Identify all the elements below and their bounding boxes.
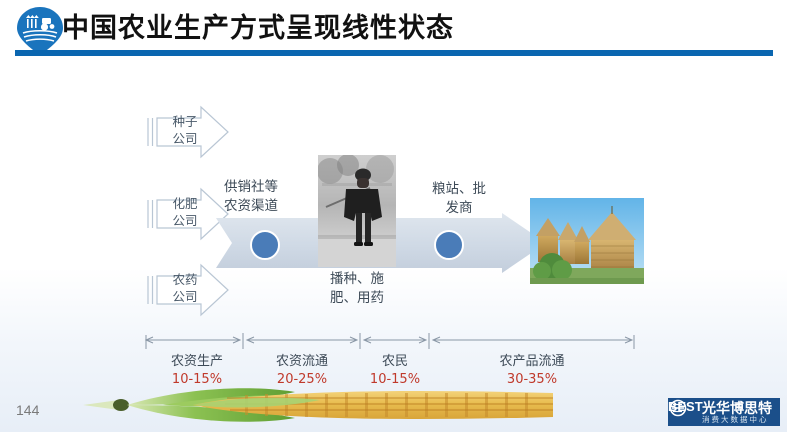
input-arrow-seed[interactable]: 种子 公司 bbox=[143, 104, 231, 160]
label-grain-depot-line2: 发商 bbox=[432, 199, 486, 218]
brand-logo: BEST 光华博思特 消费大数据中心 bbox=[668, 398, 780, 426]
slide-header: 中国农业生产方式呈现线性状态 bbox=[0, 0, 787, 58]
label-supply-channel: 供销社等 农资渠道 bbox=[224, 178, 278, 216]
traditional-granary-photo bbox=[530, 198, 644, 284]
corn-cob-image bbox=[75, 383, 555, 427]
brand-mark: BEST bbox=[668, 399, 703, 414]
label-grain-depot: 粮站、批 发商 bbox=[432, 180, 486, 218]
page-number: 144 bbox=[16, 402, 39, 418]
scale-segment-4-title: 农产品流通 bbox=[487, 350, 577, 369]
scale-segment-3-title: 农民 bbox=[350, 350, 440, 369]
farm-pin-icon bbox=[14, 6, 66, 56]
input-arrow-pesticide-line1: 农药 bbox=[163, 271, 207, 288]
input-arrow-fertilizer-line1: 化肥 bbox=[163, 195, 207, 212]
scale-segment-1-title: 农资生产 bbox=[152, 350, 242, 369]
label-grain-depot-line1: 粮站、批 bbox=[432, 180, 486, 199]
input-arrow-seed-line2: 公司 bbox=[163, 130, 207, 147]
scale-segment-2-title: 农资流通 bbox=[257, 350, 347, 369]
label-farming-activity-line1: 播种、施 bbox=[330, 270, 384, 289]
input-arrow-pesticide-line2: 公司 bbox=[163, 288, 207, 305]
farmer-with-hoe-photo bbox=[318, 155, 396, 267]
input-arrow-fertilizer-line2: 公司 bbox=[163, 212, 207, 229]
label-farming-activity: 播种、施 肥、用药 bbox=[330, 270, 384, 308]
brand-subtitle: 消费大数据中心 bbox=[702, 414, 769, 425]
title-divider bbox=[15, 50, 773, 56]
label-supply-channel-line2: 农资渠道 bbox=[224, 197, 278, 216]
input-arrow-fertilizer-label: 化肥 公司 bbox=[163, 195, 207, 229]
value-chain-scale: 农资生产 10-15% 农资流通 20-25% 农民 10-15% 农产品流通 … bbox=[144, 330, 636, 388]
flow-node-dot-2 bbox=[434, 230, 464, 260]
input-arrow-pesticide-label: 农药 公司 bbox=[163, 271, 207, 305]
input-arrow-seed-label: 种子 公司 bbox=[163, 113, 207, 147]
page-title: 中国农业生产方式呈现线性状态 bbox=[62, 6, 454, 45]
slide-canvas: 中国农业生产方式呈现线性状态 种子 公司 化肥 公司 bbox=[0, 0, 787, 432]
flow-node-dot-1 bbox=[250, 230, 280, 260]
input-arrow-seed-line1: 种子 bbox=[163, 113, 207, 130]
label-supply-channel-line1: 供销社等 bbox=[224, 178, 278, 197]
label-farming-activity-line2: 肥、用药 bbox=[330, 289, 384, 308]
